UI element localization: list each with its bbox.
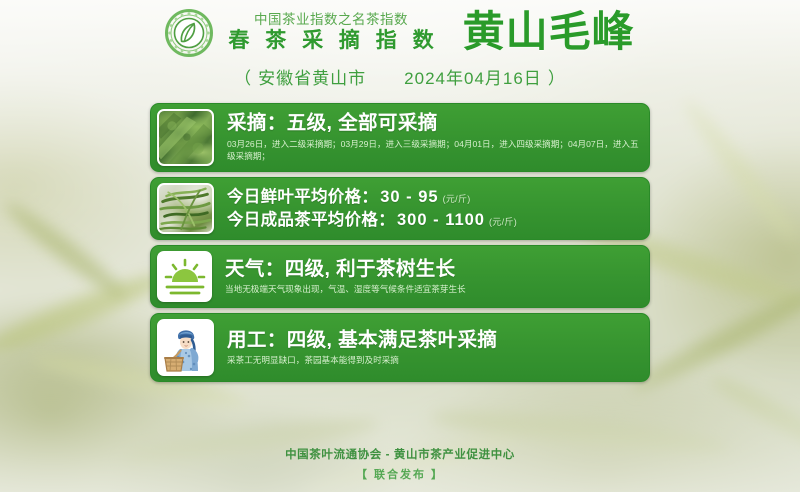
region-label: 安徽省黄山市 (258, 64, 366, 89)
footer-release-note: 【 联合发布 】 (0, 466, 800, 482)
index-card-list: 采摘：五级, 全部可采摘 03月26日，进入二级采摘期；03月29日，进入三级采… (150, 103, 650, 382)
meta-row: （ 安徽省黄山市 2024年04月16日 ） (234, 64, 566, 89)
card-labor[interactable]: 用工：四级, 基本满足茶叶采摘 采茶工无明显缺口，茶园基本能得到及时采摘 (150, 313, 650, 382)
card-labor-headline: 用工：四级, 基本满足茶叶采摘 (227, 329, 643, 351)
card-weather-headline: 天气：四级, 利于茶树生长 (225, 258, 643, 280)
price-row-fresh: 今日鲜叶平均价格：30 - 95(元/斤) (227, 186, 643, 209)
tea-garden-photo (157, 109, 214, 166)
page-header: 中国茶业指数之名茶指数 春 茶 采 摘 指 数 黄山毛峰 （ 安徽省黄山市 20… (0, 0, 800, 100)
tea-leaf-emblem-icon (165, 9, 213, 57)
card-price-body: 今日鲜叶平均价格：30 - 95(元/斤) 今日成品茶平均价格：300 - 11… (214, 186, 643, 232)
price-finished-label: 今日成品茶平均价格： (227, 211, 395, 229)
paren-close: ） (548, 64, 566, 89)
price-fresh-label: 今日鲜叶平均价格： (227, 188, 378, 206)
footer-organizations: 中国茶叶流通协会 - 黄山市茶产业促进中心 (0, 446, 800, 462)
price-row-finished: 今日成品茶平均价格：300 - 1100(元/斤) (227, 209, 643, 232)
card-picking-body: 采摘：五级, 全部可采摘 03月26日，进入二级采摘期；03月29日，进入三级采… (214, 112, 643, 162)
fresh-tea-leaves-photo (157, 183, 214, 234)
date-label: 2024年04月16日 (404, 64, 542, 89)
price-finished-value: 300 - 1100 (397, 211, 485, 229)
paren-open: （ (234, 64, 252, 89)
card-weather-sub: 当地无极端天气现象出现，气温、湿度等气候条件适宜茶芽生长 (225, 283, 643, 295)
price-fresh-value: 30 - 95 (380, 188, 438, 206)
page-footer: 中国茶叶流通协会 - 黄山市茶产业促进中心 【 联合发布 】 (0, 446, 800, 482)
card-price[interactable]: 今日鲜叶平均价格：30 - 95(元/斤) 今日成品茶平均价格：300 - 11… (150, 177, 650, 240)
card-picking[interactable]: 采摘：五级, 全部可采摘 03月26日，进入二级采摘期；03月29日，进入三级采… (150, 103, 650, 172)
card-labor-body: 用工：四级, 基本满足茶叶采摘 采茶工无明显缺口，茶园基本能得到及时采摘 (214, 329, 643, 367)
card-weather[interactable]: 天气：四级, 利于茶树生长 当地无极端天气现象出现，气温、湿度等气候条件适宜茶芽… (150, 245, 650, 308)
index-title-block: 中国茶业指数之名茶指数 春 茶 采 摘 指 数 (223, 13, 438, 51)
price-fresh-unit: (元/斤) (443, 194, 471, 204)
index-subtitle: 中国茶业指数之名茶指数 (254, 13, 408, 27)
card-picking-sub: 03月26日，进入二级采摘期；03月29日，进入三级采摘期；04月01日，进入四… (227, 138, 643, 163)
card-weather-body: 天气：四级, 利于茶树生长 当地无极端天气现象出现，气温、湿度等气候条件适宜茶芽… (212, 258, 643, 296)
price-finished-unit: (元/斤) (489, 217, 517, 227)
index-title: 春 茶 采 摘 指 数 (223, 30, 438, 51)
tea-picker-woman-icon (157, 319, 214, 376)
card-labor-sub: 采茶工无明显缺口，茶园基本能得到及时采摘 (227, 354, 643, 366)
title-row: 中国茶业指数之名茶指数 春 茶 采 摘 指 数 黄山毛峰 (165, 7, 634, 57)
card-picking-headline: 采摘：五级, 全部可采摘 (227, 112, 643, 134)
page-title: 黄山毛峰 (463, 11, 635, 53)
sunrise-icon (157, 251, 212, 302)
